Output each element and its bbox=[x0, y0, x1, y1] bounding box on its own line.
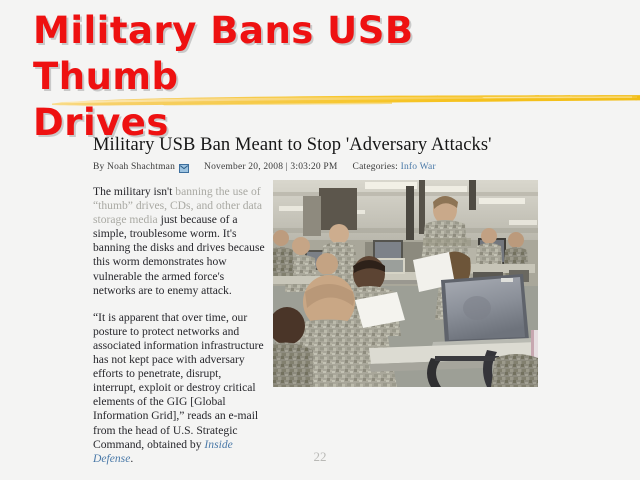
paragraph-2-lead: “It is apparent that over time, our post… bbox=[93, 311, 264, 451]
yellow-brush-underline-decoration bbox=[52, 93, 640, 108]
article-paragraph-1: The military isn't banning the use of “t… bbox=[93, 185, 265, 298]
byline-author: By Noah Shachtman bbox=[93, 161, 175, 173]
slide-title: Military Bans USB Thumb Drives bbox=[33, 8, 553, 146]
byline-date: November 20, 2008 | 3:03:20 PM bbox=[204, 161, 338, 173]
article-headline: Military USB Ban Meant to Stop 'Adversar… bbox=[93, 134, 548, 156]
article-text-column: The military isn't banning the use of “t… bbox=[93, 185, 265, 466]
byline-category-link[interactable]: Info War bbox=[401, 161, 436, 173]
article-clipping: Military USB Ban Meant to Stop 'Adversar… bbox=[93, 134, 548, 479]
paragraph-1-lead: The military isn't bbox=[93, 185, 175, 198]
article-byline: By Noah Shachtman November 20, 2008 | 3:… bbox=[93, 161, 548, 173]
byline-categories-label: Categories: bbox=[353, 161, 398, 173]
article-paragraph-2: “It is apparent that over time, our post… bbox=[93, 311, 265, 466]
page-number: 22 bbox=[0, 449, 640, 465]
article-body: The military isn't banning the use of “t… bbox=[93, 185, 548, 466]
article-photo bbox=[273, 180, 538, 387]
envelope-icon[interactable] bbox=[179, 164, 189, 173]
